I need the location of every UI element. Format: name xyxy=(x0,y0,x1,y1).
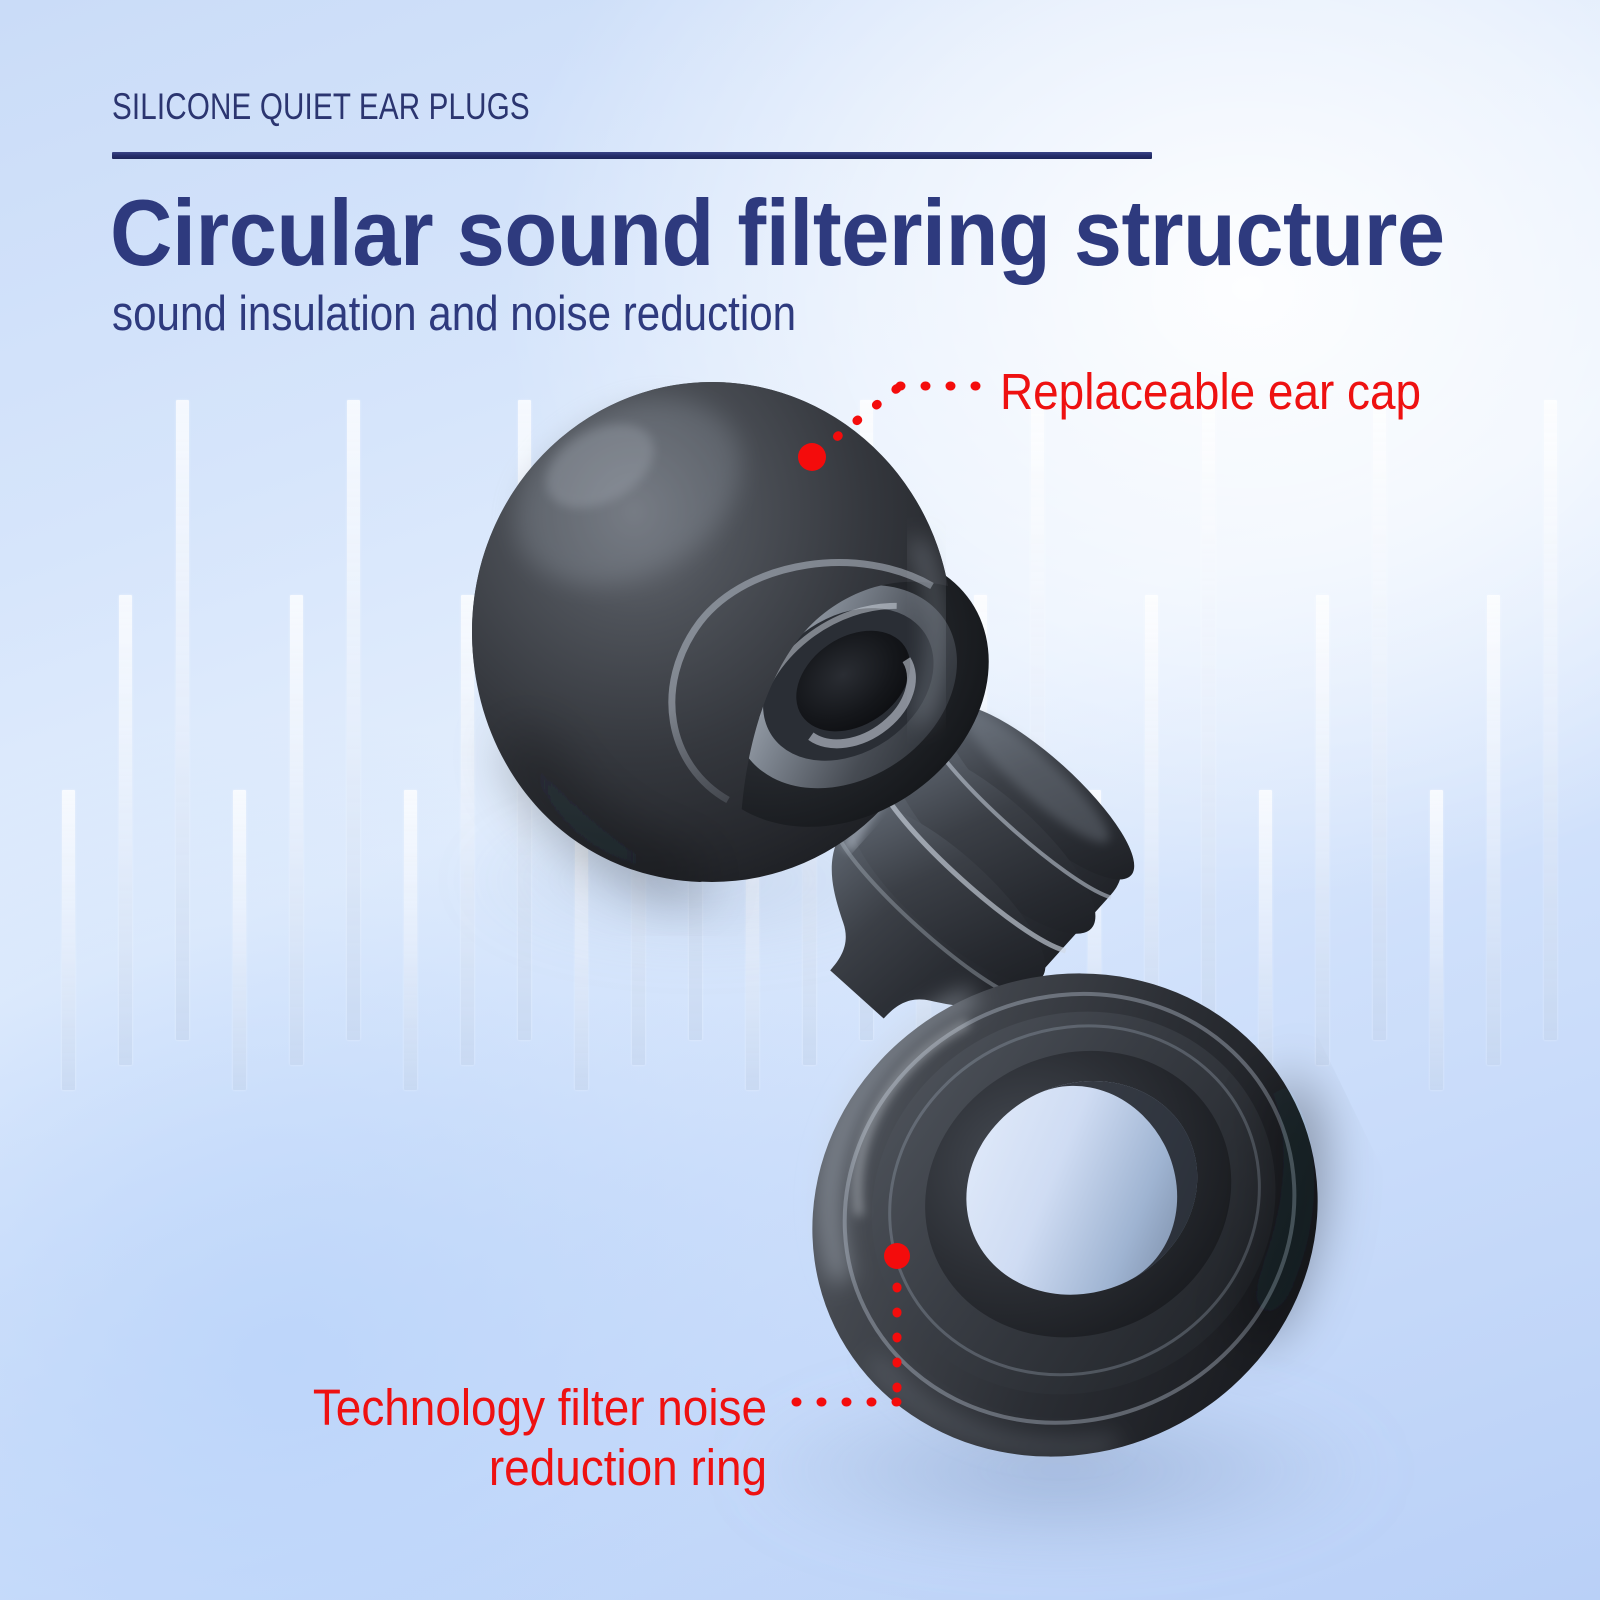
annotation-dot-ear-cap xyxy=(798,443,826,471)
equalizer-bar xyxy=(1316,595,1329,1065)
equalizer-bar xyxy=(461,595,474,1065)
annotation-dot-noise-ring xyxy=(884,1243,910,1269)
product-infographic-poster: SILICONE QUIET EAR PLUGS Circular sound … xyxy=(0,0,1600,1600)
annotation-line-1: Technology filter noise xyxy=(290,1378,767,1438)
equalizer-bar xyxy=(632,595,645,1065)
equalizer-bar xyxy=(62,790,75,1090)
annotation-label-replaceable-ear-cap: Replaceable ear cap xyxy=(1000,362,1421,421)
product-shadow xyxy=(730,1374,1390,1566)
earplug-stem xyxy=(760,679,1159,1082)
equalizer-bar xyxy=(1202,400,1215,1040)
page-title: Circular sound filtering structure xyxy=(110,186,1445,280)
equalizer-bar xyxy=(290,595,303,1065)
equalizer-bar xyxy=(347,400,360,1040)
equalizer-bar xyxy=(1544,400,1557,1040)
noise-reduction-ring xyxy=(731,889,1400,1541)
equalizer-bar xyxy=(233,790,246,1090)
dome-shadow xyxy=(450,800,950,960)
equalizer-bar xyxy=(119,595,132,1065)
equalizer-bar xyxy=(974,595,987,1065)
replaceable-ear-cap-dome xyxy=(472,361,1041,882)
equalizer-bar xyxy=(1430,790,1443,1090)
annotation-label-noise-reduction-ring: Technology filter noise reduction ring xyxy=(290,1378,767,1498)
equalizer-bar xyxy=(176,400,189,1040)
header-divider xyxy=(112,152,1152,159)
equalizer-bar xyxy=(575,790,588,1090)
equalizer-bar xyxy=(1031,400,1044,1040)
equalizer-bar xyxy=(917,790,930,1090)
page-subtitle: sound insulation and noise reduction xyxy=(112,286,796,342)
equalizer-bar xyxy=(1145,595,1158,1065)
equalizer-bar xyxy=(404,790,417,1090)
equalizer-bar xyxy=(1088,790,1101,1090)
annotation-line-2: reduction ring xyxy=(290,1438,767,1498)
equalizer-bar xyxy=(746,790,759,1090)
equalizer-bar xyxy=(860,400,873,1040)
eyebrow-label: SILICONE QUIET EAR PLUGS xyxy=(112,86,530,128)
equalizer-bar xyxy=(1259,790,1272,1090)
equalizer-bar xyxy=(1373,400,1386,1040)
equalizer-bar xyxy=(518,400,531,1040)
equalizer-bar xyxy=(1487,595,1500,1065)
equalizer-bar xyxy=(689,400,702,1040)
equalizer-bar xyxy=(803,595,816,1065)
